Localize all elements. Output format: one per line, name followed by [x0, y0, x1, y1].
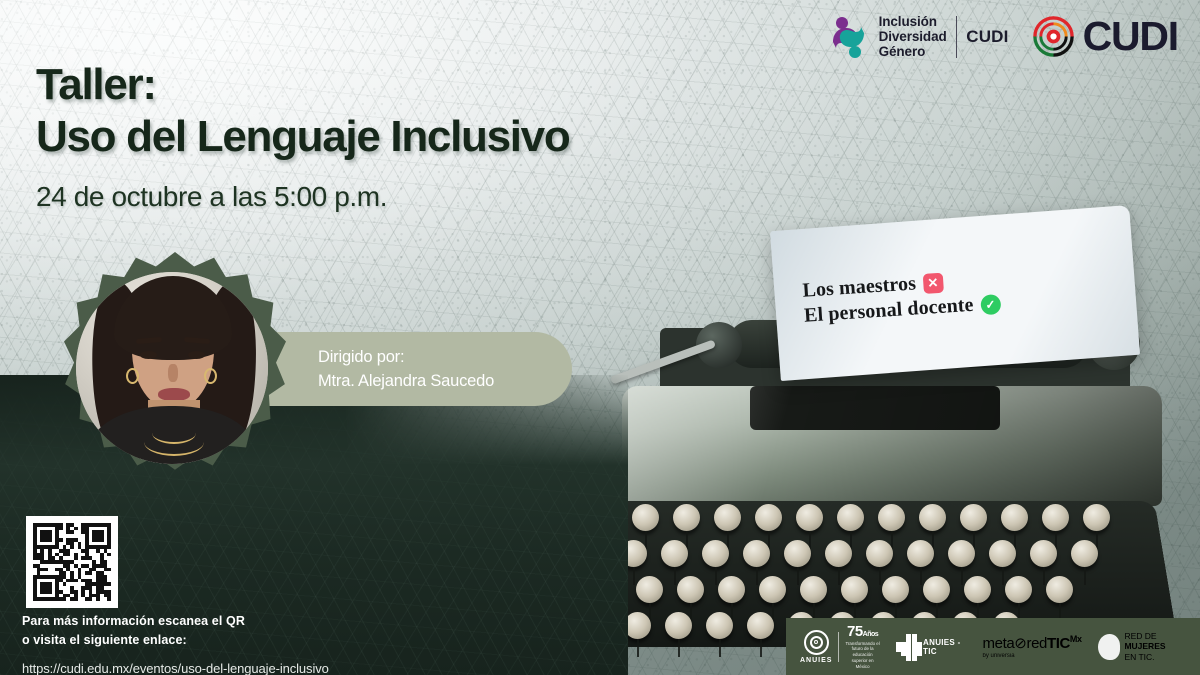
red-de-mujeres-logo[interactable]: RED DE MUJERES EN TIC.	[1098, 631, 1186, 663]
event-poster: Los maestros ✕ El personal docente ✓	[0, 0, 1200, 675]
anuies-75-big: 75	[847, 623, 863, 640]
anuies-spiral-icon	[804, 630, 829, 655]
metaredtic-red: red	[1026, 635, 1046, 652]
typewriter-key	[1046, 576, 1073, 603]
anuies-75-number: 75Años	[847, 624, 878, 639]
avatar-necklace-2	[144, 428, 204, 456]
typewriter-key	[1083, 504, 1110, 531]
idg-text-block: Inclusión Diversidad Género	[879, 14, 947, 59]
event-url[interactable]: https://cudi.edu.mx/eventos/uso-del-leng…	[22, 661, 442, 675]
idg-line-1: Inclusión	[879, 14, 947, 29]
avatar-earring-right	[204, 368, 217, 384]
typewriter-key	[784, 540, 811, 567]
typewriter-key	[964, 576, 991, 603]
qr-module	[107, 597, 111, 601]
cudi-circular-maze-icon	[1031, 14, 1076, 59]
typewriter-key	[1005, 576, 1032, 603]
anuies-75-small: Años	[863, 631, 879, 638]
pixel	[917, 651, 922, 656]
idg-line-2: Diversidad	[879, 29, 947, 44]
typewriter-key	[800, 576, 827, 603]
avatar	[76, 272, 268, 464]
title-line-2: Uso del Lenguaje Inclusivo	[36, 114, 736, 161]
typewriter-key	[673, 504, 700, 531]
typewriter-key	[960, 504, 987, 531]
anuies-divider	[838, 632, 839, 662]
typewriter-key	[706, 612, 733, 639]
event-datetime: 24 de octubre a las 5:00 p.m.	[36, 181, 736, 213]
idg-divider	[956, 16, 958, 58]
typewriter-key	[866, 540, 893, 567]
info-line-2: o visita el siguiente enlace:	[22, 631, 442, 650]
typewriter-key	[1001, 504, 1028, 531]
anuies-tic-logo[interactable]: ANUIES - TIC	[896, 634, 967, 660]
typewriter-key	[747, 612, 774, 639]
idg-cudi-label: CUDI	[966, 27, 1008, 47]
typewriter-key	[632, 504, 659, 531]
typewriter-key	[923, 576, 950, 603]
typewriter-key	[759, 576, 786, 603]
typewriter-photo: Los maestros ✕ El personal docente ✓	[560, 210, 1200, 640]
anuies-label: ANUIES	[800, 657, 832, 664]
typewriter-key	[919, 504, 946, 531]
pixel	[912, 656, 917, 661]
typewriter-key	[665, 612, 692, 639]
avatar-nose	[168, 364, 178, 382]
metaredtic-link-icon: ⊘	[1014, 635, 1026, 652]
partner-logo-bar: ANUIES 75Años Transformando el futuro de…	[786, 618, 1200, 675]
cross-icon: ✕	[922, 272, 943, 293]
metaredtic-meta: meta	[983, 635, 1015, 652]
metaredtic-byline: by universia	[983, 653, 1082, 659]
typewriter-key	[1030, 540, 1057, 567]
metaredtic-mx: Mx	[1070, 634, 1082, 644]
typewriter-shell-shading	[622, 386, 1162, 506]
idg-wordmark: Inclusión Diversidad Género CUDI	[879, 14, 1009, 59]
typewriter-paper: Los maestros ✕ El personal docente ✓	[770, 205, 1140, 381]
headline-block: Taller: Uso del Lenguaje Inclusivo 24 de…	[36, 62, 736, 213]
typewriter-key	[677, 576, 704, 603]
red-de-mujeres-wordmark: RED DE MUJERES EN TIC.	[1124, 631, 1186, 663]
qr-code[interactable]	[26, 516, 118, 608]
metaredtic-wordmark: meta⊘redTICMx	[983, 635, 1082, 651]
typewriter-key	[841, 576, 868, 603]
typewriter-key	[825, 540, 852, 567]
check-icon: ✓	[980, 294, 1001, 315]
header-logos: Inclusión Diversidad Género CUDI	[826, 14, 1178, 59]
typewriter-key	[661, 540, 688, 567]
profile-network-icon	[1098, 634, 1121, 660]
typewriter-key	[1071, 540, 1098, 567]
red-de-text: RED DE	[1124, 631, 1156, 641]
metaredtic-tic: TIC	[1047, 635, 1070, 652]
anuies-lockup: ANUIES	[800, 630, 832, 664]
avatar-eye-left	[140, 351, 157, 359]
anuies-75-anios-logo: 75Años Transformando el futuro de la edu…	[845, 624, 880, 670]
anuies-tic-label: ANUIES - TIC	[923, 638, 967, 656]
anuies-75-subtext: Transformando el futuro de la educación …	[845, 641, 880, 670]
idg-line-3: Género	[879, 44, 947, 59]
red-de-mujeres-line-1: RED DE MUJERES	[1124, 631, 1186, 652]
red-de-mujeres-line-2: EN TIC.	[1124, 652, 1186, 663]
typewriter-key	[989, 540, 1016, 567]
cudi-logo[interactable]: CUDI	[1031, 14, 1178, 59]
typewriter-key	[1042, 504, 1069, 531]
typewriter-key	[718, 576, 745, 603]
info-line-1: Para más información escanea el QR	[22, 612, 442, 631]
typewriter-key	[948, 540, 975, 567]
anuies-tic-pixel-cross-icon	[896, 634, 917, 660]
typewriter-key	[878, 504, 905, 531]
avatar-earring-left	[126, 368, 139, 384]
inclusion-diversity-gender-logo[interactable]: Inclusión Diversidad Género CUDI	[826, 14, 1009, 59]
anuies-logo[interactable]: ANUIES 75Años Transformando el futuro de…	[800, 624, 880, 670]
mujeres-text: MUJERES	[1124, 641, 1165, 651]
typewriter-key	[907, 540, 934, 567]
inclusion-diversity-gender-figures-icon	[826, 15, 870, 59]
info-block: Para más información escanea el QR o vis…	[22, 612, 442, 675]
typewriter-key	[636, 576, 663, 603]
metaredtic-logo[interactable]: meta⊘redTICMx by universia	[983, 635, 1082, 659]
typewriter-key	[796, 504, 823, 531]
typewriter-key	[837, 504, 864, 531]
typewriter-key	[755, 504, 782, 531]
qr-code-matrix	[33, 523, 111, 601]
speaker-portrait-block	[52, 252, 612, 502]
avatar-eye-right	[188, 351, 205, 359]
typewriter-key	[743, 540, 770, 567]
title-line-1: Taller:	[36, 62, 736, 109]
typewriter-machine	[600, 328, 1160, 640]
typewriter-key	[624, 612, 651, 639]
typewriter-key	[714, 504, 741, 531]
cudi-wordmark: CUDI	[1083, 16, 1178, 57]
typewriter-key	[702, 540, 729, 567]
typewriter-key	[882, 576, 909, 603]
